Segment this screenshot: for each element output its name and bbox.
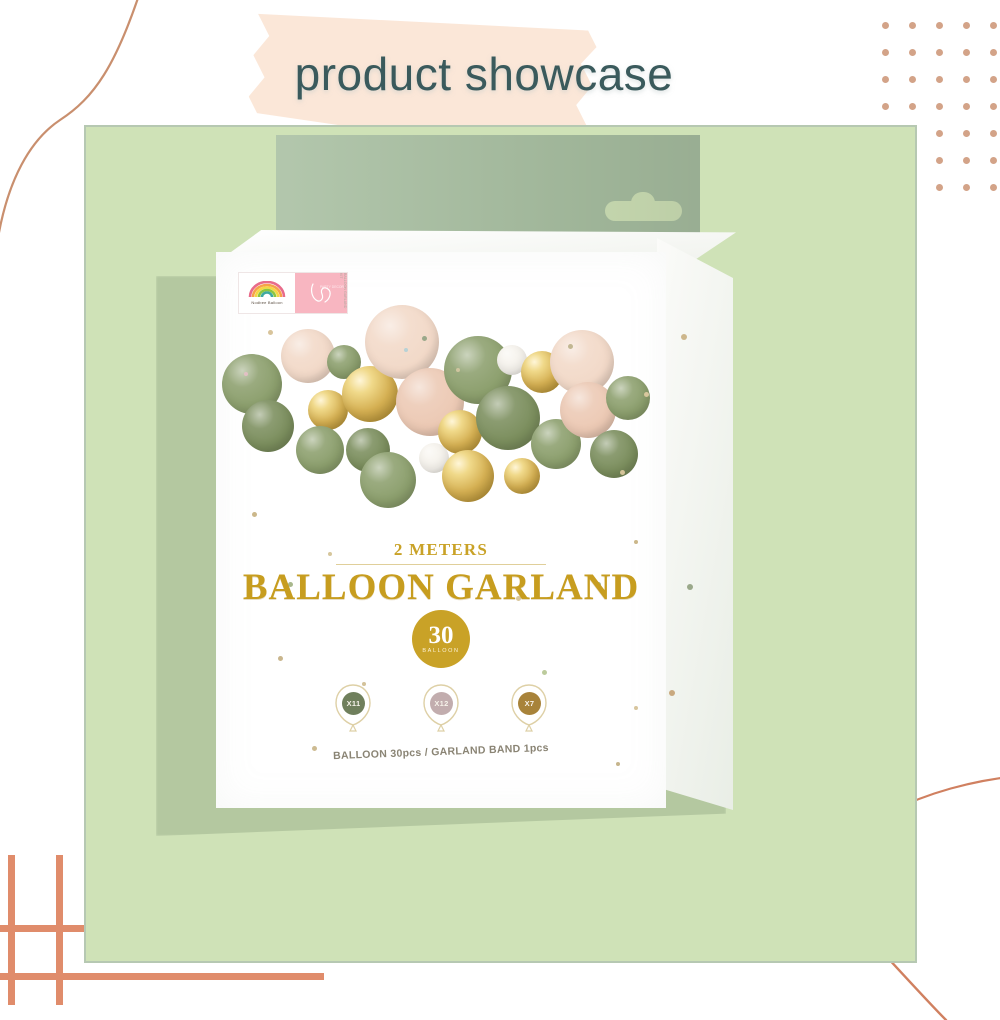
confetti-dot	[669, 690, 675, 696]
confetti-dot	[268, 330, 273, 335]
grid-dot	[963, 103, 970, 110]
grid-dot	[909, 103, 916, 110]
grid-dot	[936, 157, 943, 164]
rainbow-icon	[248, 281, 286, 298]
confetti-dot	[616, 762, 620, 766]
grid-dot	[936, 184, 943, 191]
grid-dot	[963, 184, 970, 191]
grid-dot	[936, 22, 943, 29]
grid-line-vertical	[56, 855, 63, 1005]
grid-dot	[909, 22, 916, 29]
grid-dot	[990, 157, 997, 164]
confetti-dot	[252, 512, 257, 517]
confetti-dot	[244, 372, 248, 376]
grid-dot	[882, 22, 889, 29]
balloon-count-badge: 30 BALLOON	[412, 610, 470, 668]
grid-dot	[963, 130, 970, 137]
balloon-sage_dark	[242, 400, 294, 452]
package-front-face: Nodbee Balloon PARTY DECOR BALLOON GARLA…	[216, 252, 666, 808]
confetti-dot	[456, 368, 460, 372]
spec-blush-balloon: X12	[419, 682, 463, 736]
count-number: 30	[429, 624, 454, 648]
count-label: BALLOON	[422, 648, 459, 654]
confetti-dot	[278, 656, 283, 661]
balloon-sage_dark	[590, 430, 638, 478]
balloon-gold	[442, 450, 494, 502]
confetti-dot	[404, 348, 408, 352]
confetti-dot	[644, 392, 649, 397]
grid-line-vertical	[8, 855, 15, 1005]
spec-quantity-label: X7	[518, 692, 541, 715]
balloon-gold	[504, 458, 540, 494]
confetti-dot	[422, 336, 427, 341]
balloon-sage	[360, 452, 416, 508]
confetti-dot	[681, 334, 687, 340]
euro-slot-hole-icon	[605, 201, 682, 221]
grid-dot	[963, 22, 970, 29]
divider-rule	[336, 564, 546, 565]
grid-dot	[936, 130, 943, 137]
spec-sage-green-balloon: X11	[331, 682, 375, 736]
confetti-dot	[620, 470, 625, 475]
confetti-dot	[568, 344, 573, 349]
grid-dot	[990, 22, 997, 29]
grid-dot	[963, 157, 970, 164]
balloon-sage	[296, 426, 344, 474]
grid-dot	[936, 103, 943, 110]
grid-dot	[990, 184, 997, 191]
grid-line-horizontal	[0, 973, 324, 980]
confetti-dot	[687, 584, 693, 590]
page-title: product showcase	[0, 47, 1000, 101]
spec-gold-balloon: X7	[507, 682, 551, 736]
confetti-dot	[542, 670, 547, 675]
balloon-sage	[606, 376, 650, 420]
package-contents-label: BALLOON 30pcs / GARLAND BAND 1pcs	[216, 737, 666, 766]
balloon-spec-row: X11X12X7	[216, 682, 666, 736]
package-length-label: 2 METERS	[216, 540, 666, 560]
package-side-face	[657, 238, 733, 810]
grid-dot	[990, 130, 997, 137]
spec-quantity-label: X12	[430, 692, 453, 715]
package-title: BALLOON GARLAND	[216, 566, 666, 609]
hanging-header-tab	[276, 135, 700, 241]
grid-dot	[990, 103, 997, 110]
balloon-garland-image	[216, 298, 666, 528]
spec-quantity-label: X11	[342, 692, 365, 715]
grid-dot	[882, 103, 889, 110]
product-package[interactable]: Nodbee Balloon PARTY DECOR BALLOON GARLA…	[124, 130, 724, 850]
